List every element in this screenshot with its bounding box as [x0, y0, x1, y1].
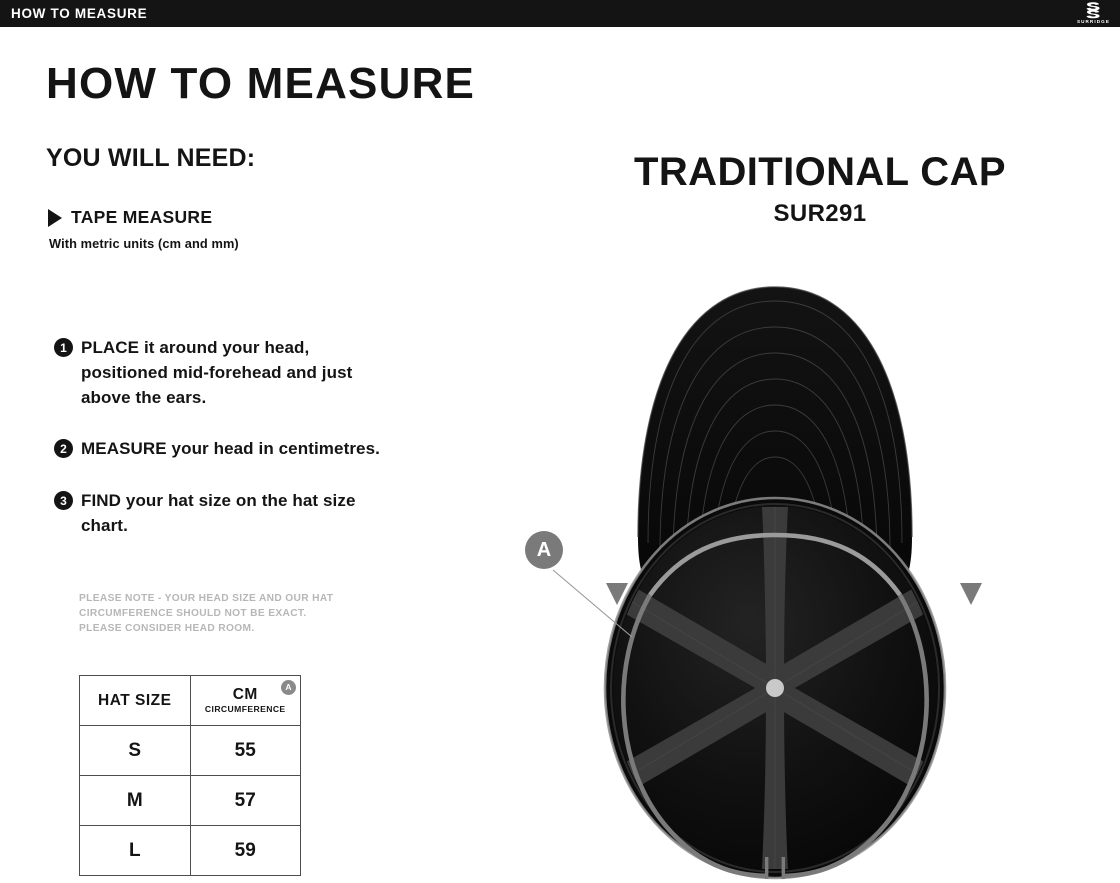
- leader-line: [553, 570, 632, 637]
- tape-end-cap-left: [765, 857, 768, 879]
- measure-steps-list: 1 PLACE it around your head, positioned …: [54, 336, 414, 566]
- table-header-row: HAT SIZE CM CIRCUMFERENCE A: [80, 676, 301, 726]
- tool-sublabel: With metric units (cm and mm): [49, 236, 448, 251]
- table-row: S 55: [80, 726, 301, 776]
- column-header-cm-circumference: CM CIRCUMFERENCE A: [190, 676, 301, 726]
- cell-hat-size: L: [80, 826, 191, 876]
- table-row: M 57: [80, 776, 301, 826]
- surridge-s-logo-icon: [1083, 2, 1103, 19]
- measurement-reference-badge: A: [281, 680, 296, 695]
- cell-cm: 57: [190, 776, 301, 826]
- list-item: 2 MEASURE your head in centimetres.: [54, 437, 414, 462]
- cell-cm: 59: [190, 826, 301, 876]
- you-will-need-heading: YOU WILL NEED:: [46, 146, 255, 171]
- top-header-bar: HOW TO MEASURE SURRIDGE: [0, 0, 1120, 27]
- brand-logo: SURRIDGE: [1077, 2, 1120, 25]
- hat-size-chart-table: HAT SIZE CM CIRCUMFERENCE A S 55 M 57 L …: [79, 675, 301, 876]
- step-text: FIND your hat size on the hat size chart…: [81, 489, 399, 539]
- crown-center-button-icon: [766, 679, 784, 697]
- step-text: MEASURE your head in centimetres.: [81, 437, 380, 462]
- header-title: HOW TO MEASURE: [0, 7, 147, 21]
- table-row: L 59: [80, 826, 301, 876]
- triangle-right-icon: [48, 209, 62, 227]
- measurement-label-a: A: [525, 531, 563, 569]
- page-title: HOW TO MEASURE: [46, 62, 475, 106]
- tape-end-cap-right: [782, 857, 785, 879]
- step-number-badge: 2: [54, 439, 73, 458]
- brand-name: SURRIDGE: [1077, 20, 1110, 25]
- cap-top-view-diagram: [505, 265, 1045, 883]
- column-header-sublabel: CIRCUMFERENCE: [191, 705, 301, 714]
- list-item: 3 FIND your hat size on the hat size cha…: [54, 489, 414, 539]
- product-code: SUR291: [560, 202, 1080, 226]
- tool-label: TAPE MEASURE: [71, 209, 212, 227]
- disclaimer-note: PLEASE NOTE - YOUR HEAD SIZE AND OUR HAT…: [79, 592, 333, 637]
- tool-requirement-item: TAPE MEASURE With metric units (cm and m…: [48, 209, 448, 251]
- arrow-down-right-icon: [960, 583, 982, 605]
- column-header-hat-size: HAT SIZE: [80, 676, 191, 726]
- cap-illustration-svg: [505, 265, 1045, 883]
- step-number-badge: 1: [54, 338, 73, 357]
- product-title: TRADITIONAL CAP: [560, 152, 1080, 192]
- cap-crown: [605, 498, 945, 878]
- list-item: 1 PLACE it around your head, positioned …: [54, 336, 414, 410]
- cell-cm: 55: [190, 726, 301, 776]
- tool-requirement-row: TAPE MEASURE: [48, 209, 448, 227]
- step-number-badge: 3: [54, 491, 73, 510]
- column-header-label: HAT SIZE: [80, 693, 190, 709]
- step-text: PLACE it around your head, positioned mi…: [81, 336, 399, 410]
- cell-hat-size: S: [80, 726, 191, 776]
- cell-hat-size: M: [80, 776, 191, 826]
